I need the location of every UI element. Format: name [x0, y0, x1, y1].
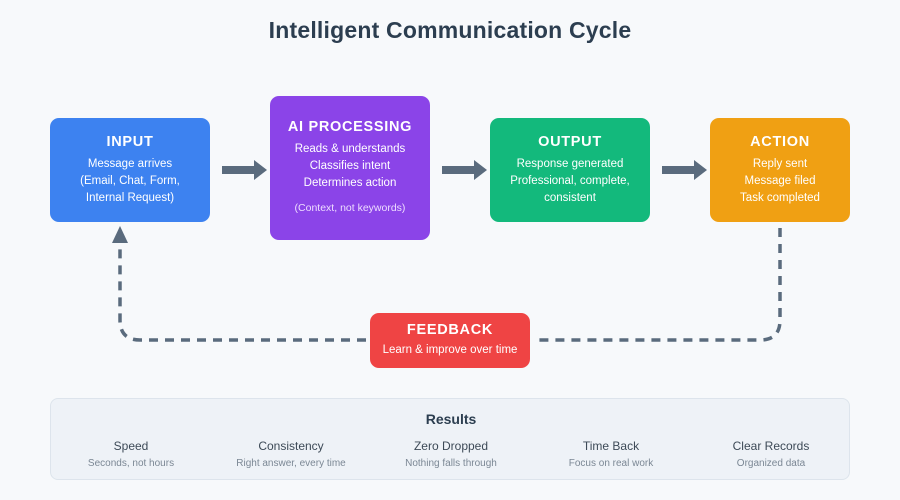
- result-label: Zero Dropped: [371, 439, 531, 453]
- node-action-title: ACTION: [750, 134, 810, 150]
- node-input-line-1: Message arrives: [88, 156, 172, 173]
- node-ai-note: (Context, not keywords): [295, 200, 406, 217]
- node-ai-processing[interactable]: AI PROCESSING Reads & understands Classi…: [270, 96, 430, 240]
- node-ai-line-3: Determines action: [304, 175, 397, 192]
- result-item-speed: Speed Seconds, not hours: [51, 439, 211, 469]
- results-title: Results: [51, 411, 851, 427]
- node-ai-title: AI PROCESSING: [288, 119, 412, 135]
- node-input-title: INPUT: [107, 134, 154, 150]
- results-panel: Results Speed Seconds, not hours Consist…: [50, 398, 850, 480]
- node-output-title: OUTPUT: [538, 134, 602, 150]
- result-label: Clear Records: [691, 439, 851, 453]
- node-feedback-title: FEEDBACK: [407, 322, 493, 338]
- node-input[interactable]: INPUT Message arrives (Email, Chat, Form…: [50, 118, 210, 222]
- arrow-ai-to-output: [442, 166, 476, 174]
- result-sub: Focus on real work: [531, 458, 691, 469]
- result-sub: Seconds, not hours: [51, 458, 211, 469]
- result-item-zero-dropped: Zero Dropped Nothing falls through: [371, 439, 531, 469]
- result-item-clear-records: Clear Records Organized data: [691, 439, 851, 469]
- node-output-line-2: Professional, complete,: [510, 173, 630, 190]
- result-sub: Right answer, every time: [211, 458, 371, 469]
- result-sub: Organized data: [691, 458, 851, 469]
- result-label: Consistency: [211, 439, 371, 453]
- page-title: Intelligent Communication Cycle: [0, 17, 900, 44]
- node-action-line-1: Reply sent: [753, 156, 807, 173]
- node-ai-line-1: Reads & understands: [295, 141, 406, 158]
- node-feedback-line-1: Learn & improve over time: [383, 342, 518, 359]
- node-action-line-3: Task completed: [740, 190, 820, 207]
- result-label: Speed: [51, 439, 211, 453]
- result-sub: Nothing falls through: [371, 458, 531, 469]
- result-label: Time Back: [531, 439, 691, 453]
- node-output-line-3: consistent: [544, 190, 596, 207]
- arrow-output-to-action: [662, 166, 696, 174]
- node-ai-line-2: Classifies intent: [310, 158, 391, 175]
- node-output-line-1: Response generated: [517, 156, 624, 173]
- results-row: Speed Seconds, not hours Consistency Rig…: [51, 439, 851, 469]
- arrow-input-to-ai: [222, 166, 256, 174]
- node-action[interactable]: ACTION Reply sent Message filed Task com…: [710, 118, 850, 222]
- result-item-consistency: Consistency Right answer, every time: [211, 439, 371, 469]
- node-input-line-3: Internal Request): [86, 190, 174, 207]
- node-action-line-2: Message filed: [745, 173, 816, 190]
- node-feedback[interactable]: FEEDBACK Learn & improve over time: [370, 313, 530, 368]
- result-item-time-back: Time Back Focus on real work: [531, 439, 691, 469]
- diagram-canvas: Intelligent Communication Cycle INPUT Me…: [0, 0, 900, 500]
- node-input-line-2: (Email, Chat, Form,: [80, 173, 180, 190]
- node-output[interactable]: OUTPUT Response generated Professional, …: [490, 118, 650, 222]
